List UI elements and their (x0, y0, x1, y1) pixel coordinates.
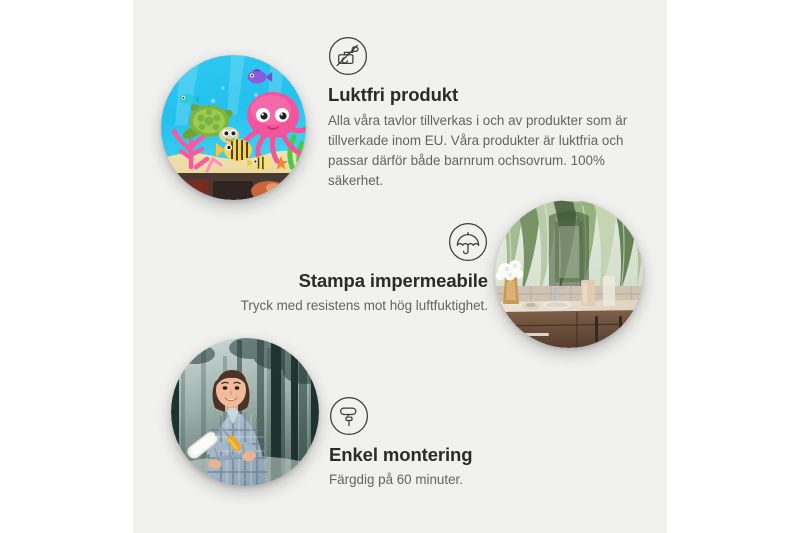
feature-heading-waterproof: Stampa impermeabile (188, 270, 488, 292)
feature-panel: Luktfri produkt Alla våra tavlor tillver… (133, 0, 667, 533)
feature-text-odorless: Luktfri produkt Alla våra tavlor tillver… (328, 36, 628, 191)
feature-body-odorless: Alla våra tavlor tillverkas i och av pro… (328, 111, 628, 190)
feature-text-easy-install: Enkel montering Färgdig på 60 minuter. (329, 396, 629, 490)
feature-heading-odorless: Luktfri produkt (328, 84, 628, 106)
icon-container-umbrella (188, 222, 488, 262)
bathroom-interior-photo-illustration (495, 200, 643, 348)
underwater-cartoon-mural-photo (161, 55, 306, 200)
icon-container-no-fragrance (328, 36, 628, 76)
installer-forest-photo-illustration (171, 338, 319, 486)
umbrella-icon (448, 222, 488, 262)
feature-text-waterproof: Stampa impermeabile Tryck med resistens … (188, 222, 488, 316)
icon-container-paint-roller (329, 396, 629, 436)
product-feature-infographic: Luktfri produkt Alla våra tavlor tillver… (0, 0, 800, 533)
bathroom-leaf-wallpaper-photo (495, 200, 643, 348)
underwater-scene-illustration (161, 55, 306, 200)
woman-paint-roller-forest-photo (171, 338, 319, 486)
feature-body-waterproof: Tryck med resistens mot hög luftfuktighe… (188, 297, 488, 316)
no-fragrance-icon (328, 36, 368, 76)
paint-roller-icon (329, 396, 369, 436)
feature-body-easy-install: Färgdig på 60 minuter. (329, 471, 629, 490)
feature-heading-easy-install: Enkel montering (329, 444, 629, 466)
